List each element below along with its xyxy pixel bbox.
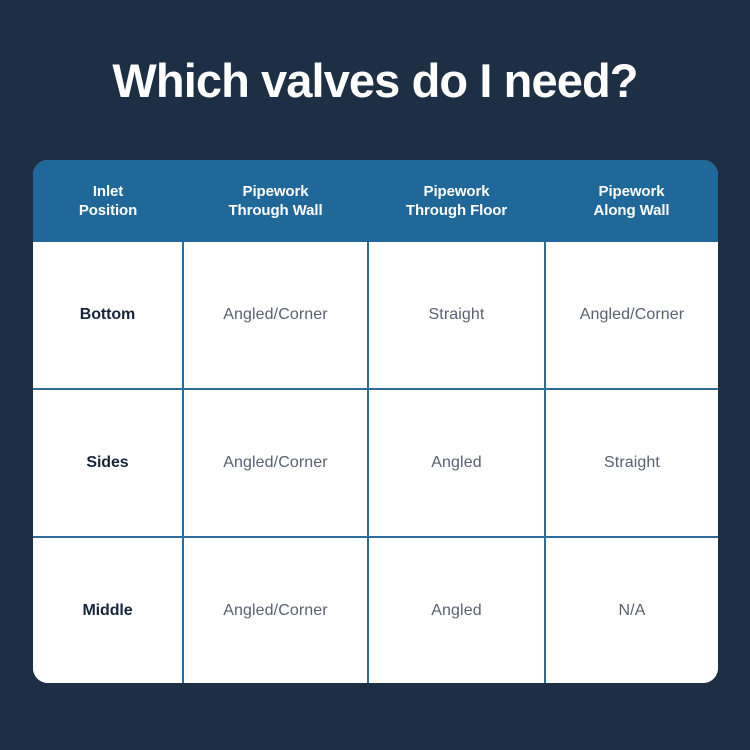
cell-sides-along-wall: Straight bbox=[545, 389, 718, 537]
column-header-inlet-position: Inlet Position bbox=[33, 160, 183, 242]
cell-sides-through-floor: Angled bbox=[368, 389, 545, 537]
cell-middle-along-wall: N/A bbox=[545, 537, 718, 683]
table-row: Sides Angled/Corner Angled Straight bbox=[33, 389, 718, 537]
row-label-bottom: Bottom bbox=[33, 242, 183, 389]
column-header-pipework-along-wall: Pipework Along Wall bbox=[545, 160, 718, 242]
table-row: Bottom Angled/Corner Straight Angled/Cor… bbox=[33, 242, 718, 389]
column-header-line-1: Inlet bbox=[33, 182, 183, 201]
cell-bottom-along-wall: Angled/Corner bbox=[545, 242, 718, 389]
table-header-row: Inlet Position Pipework Through Wall Pip… bbox=[33, 160, 718, 242]
row-label-middle: Middle bbox=[33, 537, 183, 683]
table-row: Middle Angled/Corner Angled N/A bbox=[33, 537, 718, 683]
table-header: Inlet Position Pipework Through Wall Pip… bbox=[33, 160, 718, 242]
column-header-line-1: Pipework bbox=[368, 182, 545, 201]
column-header-line-2: Along Wall bbox=[545, 201, 718, 220]
cell-bottom-through-floor: Straight bbox=[368, 242, 545, 389]
column-header-line-1: Pipework bbox=[545, 182, 718, 201]
page-title: Which valves do I need? bbox=[0, 52, 750, 110]
valve-selection-table-card: Inlet Position Pipework Through Wall Pip… bbox=[33, 160, 718, 683]
cell-bottom-through-wall: Angled/Corner bbox=[183, 242, 368, 389]
valve-selection-table: Inlet Position Pipework Through Wall Pip… bbox=[33, 160, 718, 683]
column-header-line-2: Through Floor bbox=[368, 201, 545, 220]
column-header-line-2: Through Wall bbox=[183, 201, 368, 220]
cell-middle-through-wall: Angled/Corner bbox=[183, 537, 368, 683]
row-label-sides: Sides bbox=[33, 389, 183, 537]
cell-sides-through-wall: Angled/Corner bbox=[183, 389, 368, 537]
column-header-line-2: Position bbox=[33, 201, 183, 220]
column-header-pipework-through-wall: Pipework Through Wall bbox=[183, 160, 368, 242]
page-root: Which valves do I need? Inlet Position P… bbox=[0, 0, 750, 750]
column-header-line-1: Pipework bbox=[183, 182, 368, 201]
column-header-pipework-through-floor: Pipework Through Floor bbox=[368, 160, 545, 242]
table-body: Bottom Angled/Corner Straight Angled/Cor… bbox=[33, 242, 718, 683]
cell-middle-through-floor: Angled bbox=[368, 537, 545, 683]
